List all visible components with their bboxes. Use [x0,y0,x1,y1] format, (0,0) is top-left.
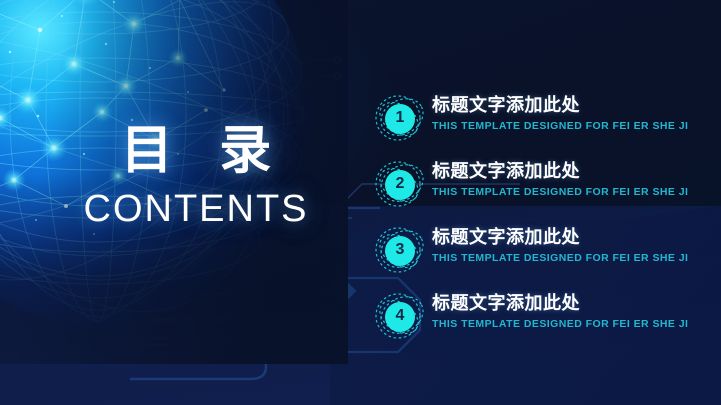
list-item-subtitle: THIS TEMPLATE DESIGNED FOR FEI ER SHE JI [432,251,688,265]
list-item-title: 标题文字添加此处 [432,226,688,248]
list-item-title: 标题文字添加此处 [432,292,688,314]
number-badge[interactable]: 4 [368,284,432,348]
presentation-slide: 目 录 CONTENTS 1 标题文字添加此处 THIS TEMPLATE DE… [0,0,721,405]
number-badge[interactable]: 3 [368,218,432,282]
list-item[interactable]: 4 标题文字添加此处 THIS TEMPLATE DESIGNED FOR FE… [368,284,708,350]
list-item-text: 标题文字添加此处 THIS TEMPLATE DESIGNED FOR FEI … [432,160,688,199]
contents-list: 1 标题文字添加此处 THIS TEMPLATE DESIGNED FOR FE… [368,86,708,350]
badge-number: 1 [368,86,432,150]
list-item[interactable]: 3 标题文字添加此处 THIS TEMPLATE DESIGNED FOR FE… [368,218,708,284]
list-item-title: 标题文字添加此处 [432,94,688,116]
list-item[interactable]: 2 标题文字添加此处 THIS TEMPLATE DESIGNED FOR FE… [368,152,708,218]
heading-english: CONTENTS [56,186,336,232]
list-item-title: 标题文字添加此处 [432,160,688,182]
heading-chinese: 目 录 [56,122,336,180]
list-item-subtitle: THIS TEMPLATE DESIGNED FOR FEI ER SHE JI [432,317,688,331]
badge-number: 3 [368,218,432,282]
badge-number: 2 [368,152,432,216]
list-item-text: 标题文字添加此处 THIS TEMPLATE DESIGNED FOR FEI … [432,94,688,133]
list-item-subtitle: THIS TEMPLATE DESIGNED FOR FEI ER SHE JI [432,119,688,133]
badge-number: 4 [368,284,432,348]
list-item[interactable]: 1 标题文字添加此处 THIS TEMPLATE DESIGNED FOR FE… [368,86,708,152]
number-badge[interactable]: 1 [368,86,432,150]
number-badge[interactable]: 2 [368,152,432,216]
slide-heading: 目 录 CONTENTS [56,122,336,232]
list-item-text: 标题文字添加此处 THIS TEMPLATE DESIGNED FOR FEI … [432,292,688,331]
list-item-subtitle: THIS TEMPLATE DESIGNED FOR FEI ER SHE JI [432,185,688,199]
list-item-text: 标题文字添加此处 THIS TEMPLATE DESIGNED FOR FEI … [432,226,688,265]
